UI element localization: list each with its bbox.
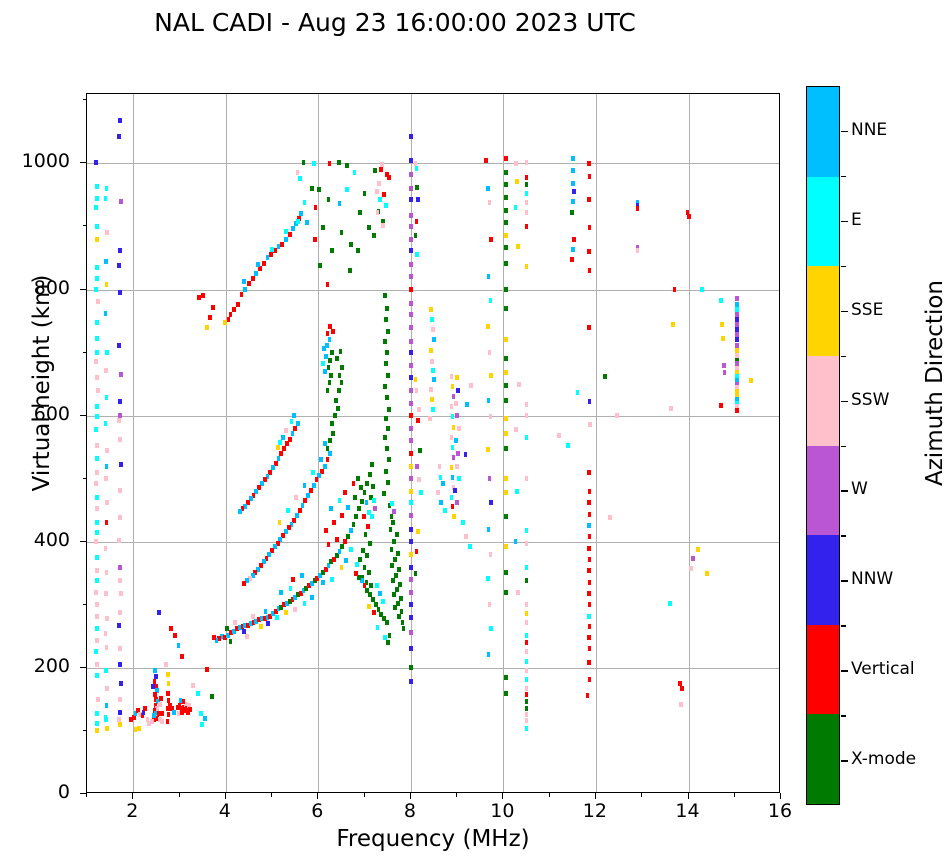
echo-point: [167, 712, 171, 717]
echo-point: [356, 476, 360, 481]
echo-point: [409, 630, 413, 635]
echo-point: [104, 196, 108, 201]
echo-point: [365, 588, 369, 593]
echo-point: [105, 616, 109, 621]
x-tick: [132, 793, 133, 799]
echo-point: [603, 374, 607, 379]
y-tick-minor: [83, 478, 87, 479]
y-tick: [80, 162, 86, 163]
echo-point: [390, 563, 394, 568]
x-tick: [595, 793, 596, 799]
echo-point: [378, 197, 382, 202]
echo-point: [525, 659, 529, 664]
echo-point: [354, 514, 358, 519]
colorbar-segment-w: [807, 446, 839, 536]
echo-point: [504, 431, 508, 436]
echo-point: [504, 245, 508, 250]
echo-point: [104, 591, 108, 596]
echo-point: [370, 514, 374, 519]
echo-point: [282, 446, 286, 451]
echo-point: [687, 214, 691, 219]
echo-point: [587, 249, 591, 254]
echo-point: [384, 416, 388, 421]
echo-point: [587, 523, 591, 528]
echo-point: [355, 562, 359, 567]
echo-point: [368, 472, 372, 477]
x-tick: [780, 793, 781, 799]
echo-point: [402, 626, 406, 631]
echo-point: [415, 252, 419, 257]
echo-point: [94, 539, 98, 544]
echo-point: [118, 710, 122, 715]
echo-point: [487, 274, 491, 279]
echo-point: [456, 388, 460, 393]
echo-point: [525, 402, 529, 407]
echo-point: [586, 693, 590, 698]
echo-point: [504, 490, 508, 495]
colorbar-tick: [841, 131, 848, 133]
echo-point: [504, 182, 508, 187]
echo-point: [118, 488, 122, 493]
echo-point: [387, 457, 391, 462]
x-tick-minor: [456, 793, 457, 797]
echo-point: [95, 520, 99, 525]
echo-point: [691, 556, 695, 561]
echo-point: [409, 350, 413, 355]
gridline-vertical: [318, 94, 319, 792]
echo-point: [504, 446, 508, 451]
echo-point: [284, 237, 288, 242]
echo-point: [331, 329, 335, 334]
echo-point: [438, 464, 442, 469]
echo-point: [409, 325, 413, 330]
echo-point: [225, 626, 229, 631]
echo-point: [358, 210, 362, 215]
echo-point: [339, 349, 343, 354]
echo-point: [571, 199, 575, 204]
y-tick-minor: [83, 730, 87, 731]
echo-point: [118, 646, 122, 651]
echo-point: [169, 626, 173, 631]
echo-point: [461, 520, 465, 525]
echo-point: [525, 413, 529, 418]
echo-point: [428, 416, 432, 421]
echo-point: [336, 406, 340, 411]
echo-point: [409, 513, 413, 518]
echo-point: [451, 504, 455, 509]
echo-point: [465, 402, 469, 407]
echo-point: [118, 722, 122, 727]
echo-point: [344, 558, 348, 563]
ionogram-figure: NAL CADI - Aug 23 16:00:00 2023 UTC 2468…: [0, 0, 951, 856]
x-tick: [502, 793, 503, 799]
echo-point: [504, 476, 508, 481]
colorbar-boundary-tick: [841, 176, 846, 178]
echo-point: [486, 447, 490, 452]
echo-point: [409, 363, 413, 368]
echo-point: [363, 565, 367, 570]
echo-point: [389, 527, 393, 532]
echo-point: [291, 226, 295, 231]
echo-point: [118, 290, 122, 295]
echo-point: [504, 398, 508, 403]
echo-point: [409, 401, 413, 406]
echo-point: [95, 673, 99, 678]
echo-point: [364, 532, 368, 537]
x-tick-minor: [86, 793, 87, 797]
echo-point: [450, 495, 454, 500]
x-tick-label: 10: [472, 800, 532, 822]
echo-point: [353, 170, 357, 175]
echo-point: [294, 495, 298, 500]
echo-point: [254, 271, 258, 276]
echo-point: [450, 374, 454, 379]
echo-point: [572, 237, 576, 242]
echo-point: [368, 541, 372, 546]
echo-point: [362, 514, 366, 519]
y-tick-label: 200: [8, 655, 70, 677]
echo-point: [504, 287, 508, 292]
echo-point: [95, 184, 99, 189]
echo-point: [296, 421, 300, 426]
echo-point: [372, 233, 376, 238]
echo-point: [587, 161, 591, 166]
echo-point: [525, 200, 529, 205]
echo-point: [504, 156, 508, 161]
x-tick-minor: [271, 793, 272, 797]
echo-point: [318, 263, 322, 268]
echo-point: [587, 568, 591, 573]
echo-point: [393, 605, 397, 610]
echo-point: [504, 170, 508, 175]
echo-point: [245, 634, 249, 639]
echo-point: [723, 370, 727, 375]
echo-point: [409, 527, 413, 532]
echo-point: [326, 388, 330, 393]
echo-point: [118, 248, 122, 253]
echo-point: [415, 464, 419, 469]
echo-point: [303, 601, 307, 606]
echo-point: [95, 626, 99, 631]
echo-point: [232, 307, 236, 312]
colorbar-segment-x-mode: [807, 714, 839, 804]
colorbar-tick: [841, 401, 848, 403]
echo-point: [153, 668, 157, 673]
x-tick-minor: [364, 793, 365, 797]
echo-point: [387, 175, 391, 180]
echo-point: [454, 401, 458, 406]
echo-point: [572, 189, 576, 194]
gridline-vertical: [226, 94, 227, 792]
echo-point: [525, 175, 529, 180]
echo-point: [488, 602, 492, 607]
echo-point: [525, 706, 529, 711]
echo-point: [159, 696, 163, 701]
echo-point: [432, 377, 436, 382]
echo-point: [105, 448, 109, 453]
echo-point: [386, 373, 390, 378]
echo-point: [409, 134, 413, 139]
echo-point: [366, 524, 370, 529]
echo-point: [296, 170, 300, 175]
echo-point: [96, 299, 100, 304]
echo-point: [345, 187, 349, 192]
echo-point: [326, 457, 330, 462]
colorbar-boundary-tick: [841, 625, 846, 627]
echo-point: [525, 686, 529, 691]
echo-point: [456, 451, 460, 456]
echo-point: [415, 166, 419, 171]
echo-point: [352, 481, 356, 486]
echo-point: [266, 621, 270, 626]
echo-point: [504, 544, 508, 549]
x-tick-minor: [641, 793, 642, 797]
echo-point: [409, 237, 413, 242]
echo-point: [337, 160, 341, 165]
echo-point: [328, 337, 332, 342]
echo-point: [525, 541, 529, 546]
echo-point: [504, 233, 508, 238]
echo-point: [349, 528, 353, 533]
echo-point: [118, 697, 122, 702]
echo-point: [588, 399, 592, 404]
echo-point: [514, 427, 518, 432]
echo-point: [94, 205, 98, 210]
echo-point: [323, 441, 327, 446]
echo-point: [401, 620, 405, 625]
echo-point: [357, 506, 361, 511]
echo-point: [143, 706, 147, 711]
echo-point: [303, 483, 307, 488]
echo-point: [105, 703, 109, 708]
colorbar-tick: [841, 670, 848, 672]
echo-point: [409, 489, 413, 494]
echo-point: [504, 416, 508, 421]
echo-point: [337, 388, 341, 393]
echo-point: [414, 571, 418, 576]
echo-point: [414, 377, 418, 382]
echo-point: [310, 186, 314, 191]
colorbar-segment-vertical: [807, 625, 839, 715]
echo-point: [264, 609, 268, 614]
echo-point: [375, 189, 379, 194]
echo-point: [371, 597, 375, 602]
echo-point: [504, 195, 508, 200]
echo-point: [104, 546, 108, 551]
echo-point: [95, 506, 99, 511]
echo-point: [118, 610, 122, 615]
y-tick: [80, 541, 86, 542]
echo-point: [326, 446, 330, 451]
y-tick-minor: [83, 99, 87, 100]
echo-point: [104, 668, 108, 673]
echo-point: [588, 174, 592, 179]
echo-point: [105, 645, 109, 650]
echo-point: [95, 350, 99, 355]
echo-point: [293, 607, 297, 612]
echo-point: [432, 337, 436, 342]
echo-point: [188, 707, 192, 712]
echo-point: [384, 361, 388, 366]
echo-point: [312, 161, 316, 166]
echo-point: [290, 419, 294, 424]
echo-point: [95, 638, 99, 643]
echo-point: [191, 683, 195, 688]
echo-point: [242, 581, 246, 586]
echo-point: [105, 520, 109, 525]
echo-point: [328, 451, 332, 456]
gridline-vertical: [689, 94, 690, 792]
echo-point: [95, 711, 99, 716]
echo-point: [173, 633, 177, 638]
echo-point: [212, 635, 216, 640]
echo-point: [377, 181, 381, 186]
echo-point: [416, 197, 420, 202]
echo-point: [384, 469, 388, 474]
echo-point: [340, 513, 344, 518]
colorbar-tick: [841, 580, 848, 582]
echo-point: [525, 649, 529, 654]
echo-point: [525, 692, 529, 697]
echo-point: [409, 476, 413, 481]
echo-point: [279, 590, 283, 595]
echo-point: [373, 168, 377, 173]
echo-point: [319, 457, 323, 462]
echo-point: [150, 719, 154, 724]
echo-point: [525, 578, 529, 583]
echo-point: [338, 498, 342, 503]
y-tick-minor: [83, 352, 87, 353]
echo-point: [352, 522, 356, 527]
echo-point: [119, 681, 123, 686]
echo-point: [409, 213, 413, 218]
y-tick-label: 1000: [8, 150, 70, 172]
echo-point: [525, 620, 529, 625]
echo-point: [735, 296, 739, 301]
echo-point: [409, 413, 413, 418]
echo-point: [409, 602, 413, 607]
echo-point: [105, 282, 109, 287]
echo-point: [393, 557, 397, 562]
echo-point: [118, 578, 122, 583]
echo-point: [329, 506, 333, 511]
echo-point: [95, 224, 99, 229]
echo-point: [117, 263, 121, 268]
echo-point: [331, 431, 335, 436]
echo-point: [488, 350, 492, 355]
echo-point: [464, 452, 468, 457]
echo-point: [95, 237, 99, 242]
echo-point: [94, 481, 98, 486]
y-tick: [80, 667, 86, 668]
colorbar-tick: [841, 221, 848, 223]
echo-point: [451, 445, 455, 450]
gridline-vertical: [133, 94, 134, 792]
echo-point: [588, 580, 592, 585]
echo-point: [338, 373, 342, 378]
echo-point: [487, 527, 491, 532]
echo-point: [525, 224, 529, 229]
echo-point: [95, 404, 99, 409]
echo-point: [705, 571, 709, 576]
echo-point: [455, 464, 459, 469]
echo-point: [105, 726, 109, 731]
echo-point: [615, 413, 619, 418]
echo-point: [525, 602, 529, 607]
echo-point: [504, 337, 508, 342]
colorbar-tick: [841, 760, 848, 762]
echo-point: [105, 230, 109, 235]
echo-point: [391, 520, 395, 525]
echo-point: [328, 380, 332, 385]
colorbar-label-sse: SSE: [851, 300, 883, 320]
echo-point: [348, 268, 352, 273]
echo-point: [289, 586, 293, 591]
echo-point: [415, 549, 419, 554]
echo-point: [504, 261, 508, 266]
echo-point: [455, 375, 459, 380]
echo-point: [525, 435, 529, 440]
echo-point: [321, 580, 325, 585]
echo-point: [409, 262, 413, 267]
echo-point: [587, 325, 591, 330]
echo-point: [457, 426, 461, 431]
echo-point: [409, 224, 413, 229]
echo-point: [409, 274, 413, 279]
echo-point: [205, 667, 209, 672]
echo-point: [429, 348, 433, 353]
echo-point: [430, 317, 434, 322]
echo-point: [323, 369, 327, 374]
echo-point: [391, 578, 395, 583]
echo-point: [137, 726, 141, 731]
echo-point: [386, 426, 390, 431]
gridline-vertical: [596, 94, 597, 792]
echo-point: [105, 350, 109, 355]
echo-point: [409, 287, 413, 292]
echo-point: [94, 287, 98, 292]
echo-point: [489, 500, 493, 505]
echo-point: [371, 484, 375, 489]
echo-point: [118, 565, 122, 570]
echo-point: [409, 426, 413, 431]
echo-point: [259, 624, 263, 629]
echo-point: [353, 495, 357, 500]
echo-point: [95, 721, 99, 726]
echo-point: [210, 694, 214, 699]
echo-point: [392, 592, 396, 597]
echo-point: [119, 462, 123, 467]
echo-point: [177, 711, 181, 716]
echo-point: [514, 161, 518, 166]
echo-point: [293, 426, 297, 431]
echo-point: [385, 395, 389, 400]
echo-point: [396, 551, 400, 556]
echo-point: [430, 359, 434, 364]
colorbar-label-ssw: SSW: [851, 390, 889, 410]
echo-point: [487, 398, 491, 403]
echo-point: [452, 455, 456, 460]
x-tick-label: 14: [658, 800, 718, 822]
echo-point: [570, 210, 574, 215]
echo-point: [152, 713, 156, 718]
x-tick-label: 16: [750, 800, 810, 822]
echo-point: [588, 225, 592, 230]
echo-point: [387, 407, 391, 412]
x-tick-label: 12: [565, 800, 625, 822]
echo-point: [395, 532, 399, 537]
echo-point: [303, 200, 307, 205]
